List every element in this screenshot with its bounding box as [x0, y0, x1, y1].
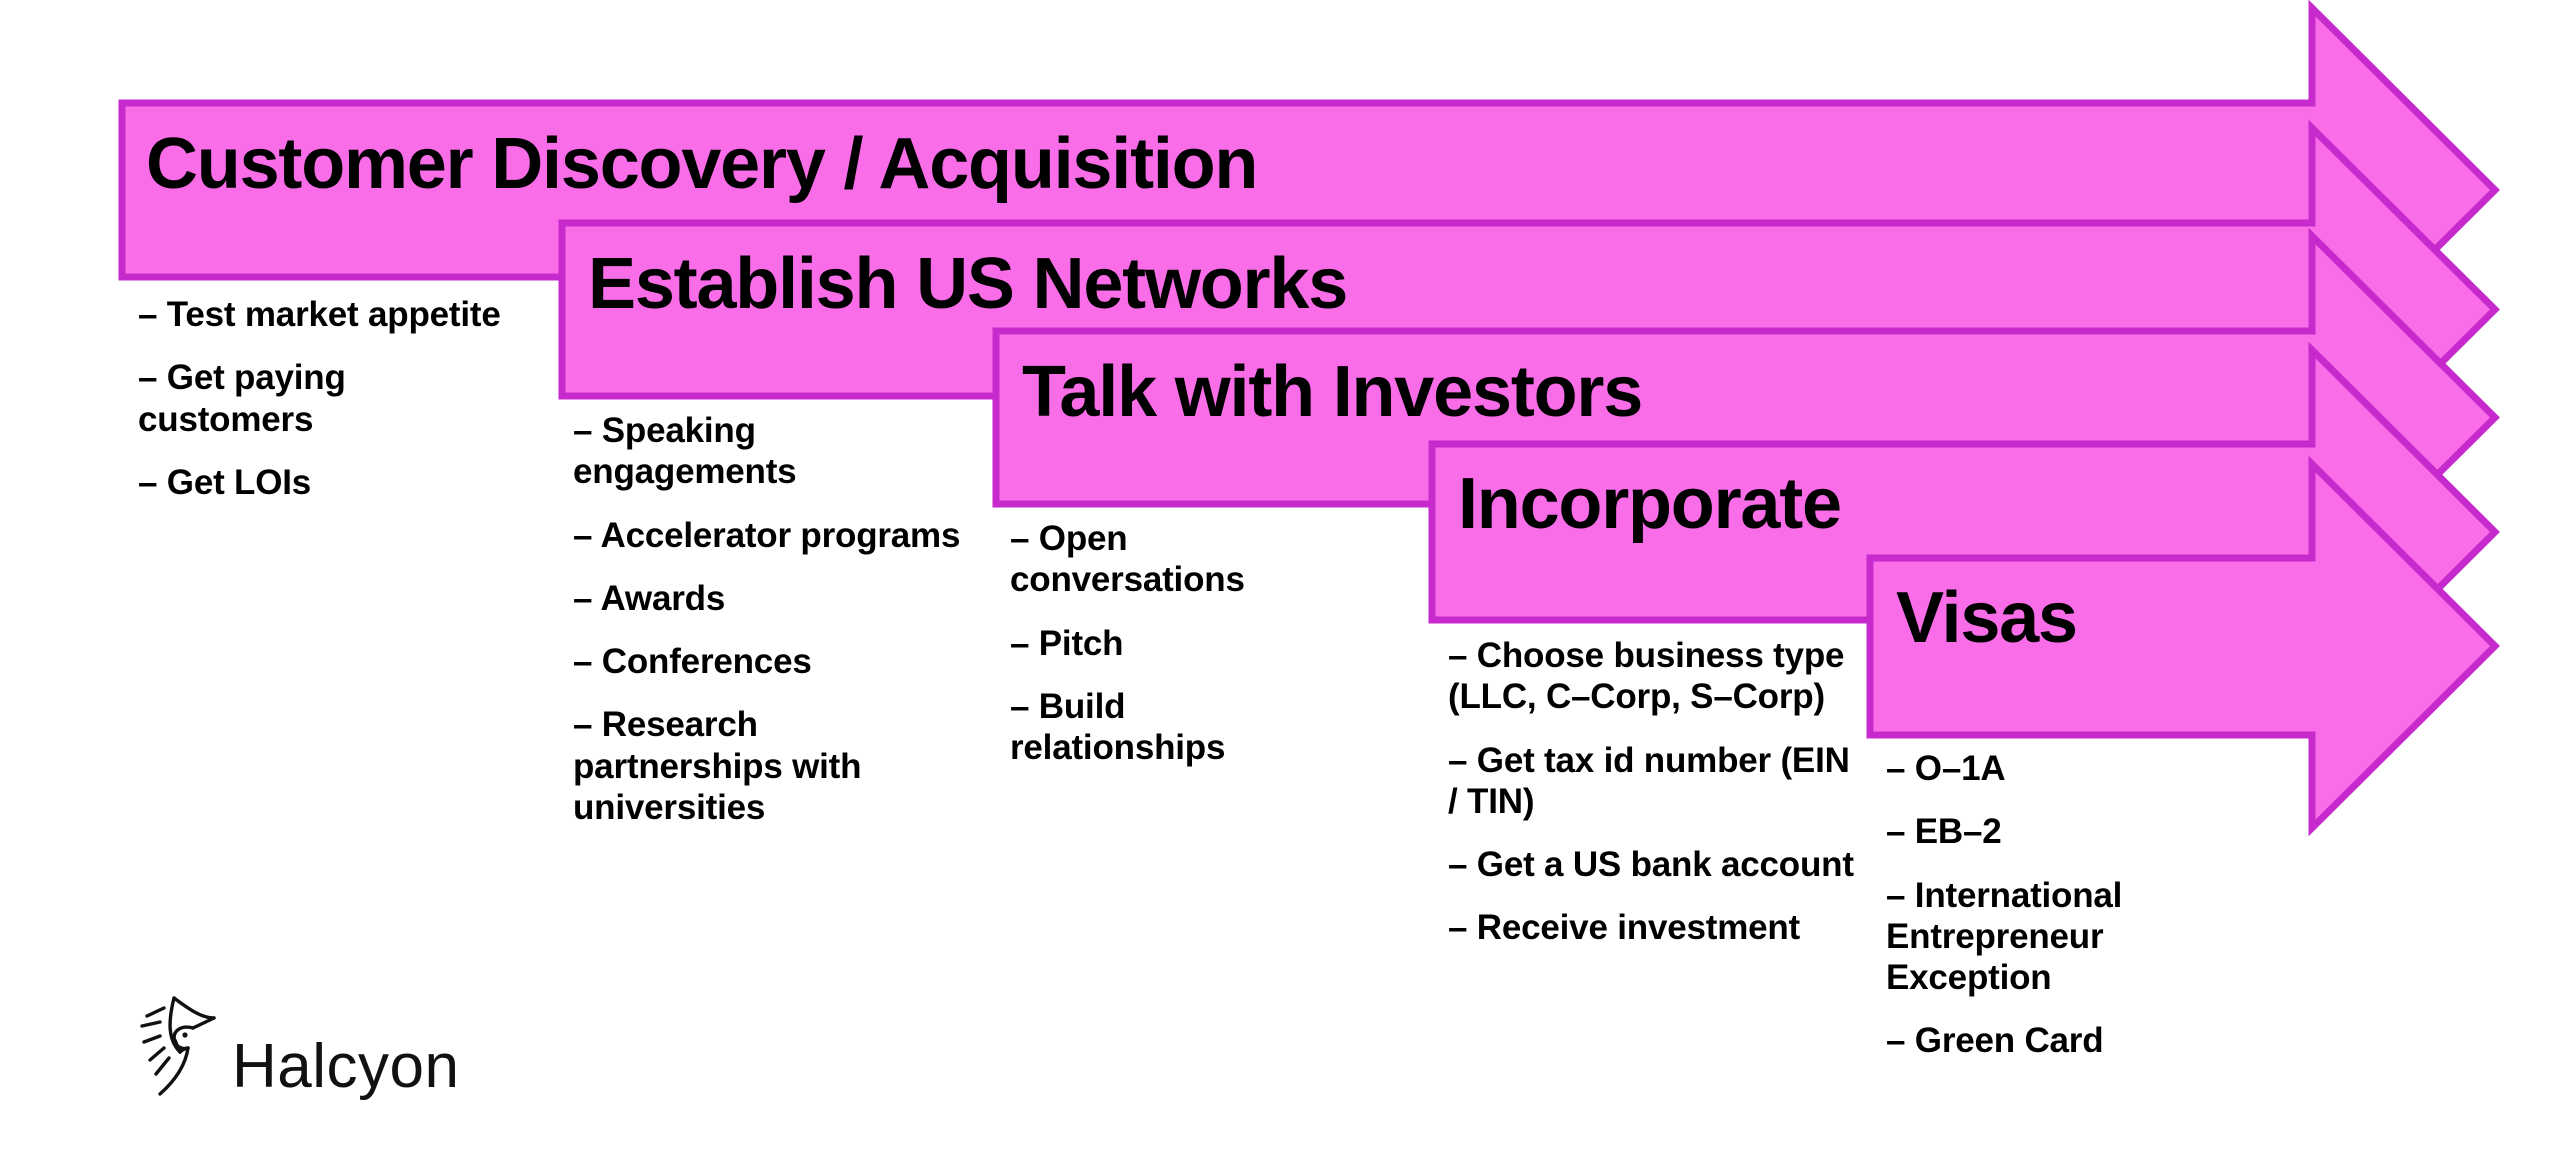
bullet-item: – Conferences	[573, 641, 973, 682]
bullet-item: – Pitch	[1010, 623, 1350, 664]
bullet-item: – Test market appetite	[138, 294, 508, 335]
arrow-title-customer-discovery: Customer Discovery / Acquisition	[146, 128, 1257, 200]
halcyon-logo: Halcyon	[138, 992, 460, 1104]
bullet-item: – Open conversations	[1010, 518, 1350, 601]
arrow-title-visas: Visas	[1896, 582, 2077, 654]
bullet-column-customer-discovery: – Test market appetite– Get paying custo…	[138, 294, 508, 503]
bullet-item: – Choose business type (LLC, C–Corp, S–C…	[1448, 635, 1868, 718]
bullet-item: – Green Card	[1886, 1020, 2246, 1061]
bullet-column-visas: – O–1A– EB–2– International Entrepreneur…	[1886, 748, 2246, 1062]
bullet-item: – EB–2	[1886, 811, 2246, 852]
arrow-title-incorporate: Incorporate	[1458, 468, 1841, 540]
bullet-column-establish-us-networks: – Speaking engagements– Accelerator prog…	[573, 410, 973, 828]
arrow-title-establish-us-networks: Establish US Networks	[588, 248, 1347, 320]
bullet-item: – Get tax id number (EIN / TIN)	[1448, 740, 1868, 823]
bullet-column-incorporate: – Choose business type (LLC, C–Corp, S–C…	[1448, 635, 1868, 949]
bullet-item: – Get paying customers	[138, 357, 508, 440]
bullet-item: – Build relationships	[1010, 686, 1350, 769]
slide-canvas: Customer Discovery / Acquisition Establi…	[0, 0, 2560, 1176]
bullet-item: – Get LOIs	[138, 462, 508, 503]
hummingbird-icon	[138, 992, 224, 1104]
bullet-item: – International Entrepreneur Exception	[1886, 875, 2246, 999]
halcyon-wordmark: Halcyon	[232, 1036, 460, 1098]
bullet-item: – Research partnerships with universitie…	[573, 704, 973, 828]
bullet-column-talk-with-investors: – Open conversations– Pitch– Build relat…	[1010, 518, 1350, 768]
bullet-item: – Speaking engagements	[573, 410, 973, 493]
bullet-item: – O–1A	[1886, 748, 2246, 789]
bullet-item: – Get a US bank account	[1448, 844, 1868, 885]
bullet-item: – Receive investment	[1448, 907, 1868, 948]
arrow-title-talk-with-investors: Talk with Investors	[1022, 356, 1642, 428]
bullet-item: – Awards	[573, 578, 973, 619]
bullet-item: – Accelerator programs	[573, 515, 973, 556]
